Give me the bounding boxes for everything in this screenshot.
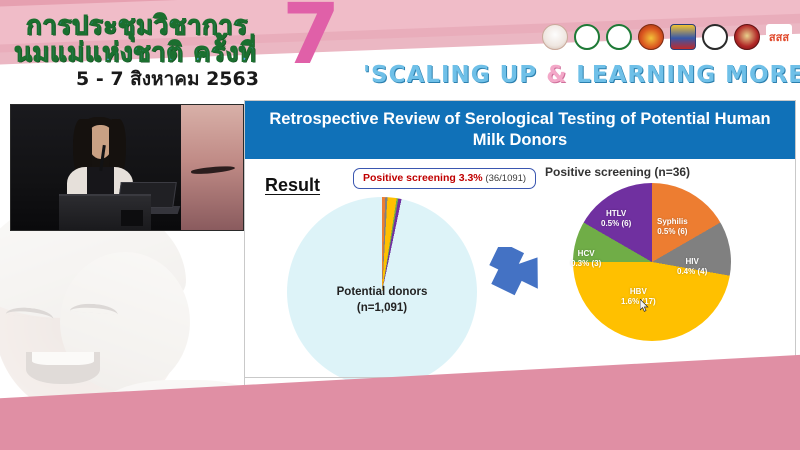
footnote-abbr-hcv: HCV (332, 385, 348, 394)
footnote-citation: Cohen RS, et al. Arch Dis Child Fetal Ne… (591, 386, 787, 393)
slice-value-htlv: 0.5% (6) (601, 219, 631, 229)
footnote-abbr-hbv: HBV (253, 385, 269, 394)
positive-screening-pie-chart[interactable]: Syphilis 0.5% (6) HIV 0.4% (4) HBV 1.6% … (573, 183, 731, 341)
slice-label-hiv: HIV 0.4% (4) (677, 257, 707, 277)
tagline-part1: 'SCALING UP (363, 62, 546, 88)
slide-body: Result Positive screening 3.3% (36/1091)… (245, 159, 795, 402)
slice-value-hcv: 0.3% (3) (571, 259, 601, 269)
royal-emblem-logo (542, 24, 568, 50)
tagline-ampersand: & (546, 62, 567, 88)
footnote-text: HBV: Hepatitis B virus; HCV: Hepatitis C… (253, 385, 544, 394)
slice-value-hiv: 0.4% (4) (677, 267, 707, 277)
watermark-mouth (26, 352, 100, 384)
footnote-text-1: : Hepatitis B virus; (269, 385, 332, 394)
slice-name-hiv: HIV (677, 257, 707, 267)
potential-donors-center-label: Potential donors (n=1,091) (287, 285, 477, 316)
slide-footnote: HBV: Hepatitis B virus; HCV: Hepatitis C… (245, 377, 795, 401)
watermark-teeth (32, 352, 94, 365)
slice-value-syphilis: 0.5% (6) (657, 227, 688, 237)
podium-plate (121, 210, 143, 226)
red-garuda-crest-logo (734, 24, 760, 50)
potential-donors-count: (n=1,091) (287, 301, 477, 317)
footnote-text-2: : Hepatitis C virus ; (348, 385, 414, 394)
watermark-shoulder (100, 380, 250, 427)
slice-label-htlv: HTLV 0.5% (6) (601, 209, 631, 229)
callout-fraction: (36/1091) (485, 173, 526, 184)
blue-arrow-icon (483, 247, 545, 305)
black-circle-institute-logo (702, 24, 728, 50)
speaker-video[interactable] (10, 104, 244, 231)
potential-donors-pie-chart[interactable]: Potential donors (n=1,091) (287, 197, 477, 387)
footnote-text-3: : human T cell lymphotropic virus (434, 385, 545, 394)
result-label: Result (265, 175, 320, 196)
slice-name-htlv: HTLV (601, 209, 631, 219)
slide-title: Retrospective Review of Serological Test… (245, 101, 795, 159)
footnote-abbr-htlv: HTLV (414, 385, 433, 394)
royal-crest-orange-logo (638, 24, 664, 50)
slice-value-hbv: 1.6% (17) (621, 297, 656, 307)
callout-highlight: Positive screening 3.3% (363, 172, 483, 184)
slice-name-hcv: HCV (571, 249, 601, 259)
positive-screening-chart-title: Positive screening (n=36) (545, 165, 690, 179)
thai-breastfeeding-green-logo (574, 24, 600, 50)
slice-label-syphilis: Syphilis 0.5% (6) (657, 217, 688, 237)
thaihealth-sss-logo: สสส (766, 24, 792, 50)
slice-name-syphilis: Syphilis (657, 217, 688, 227)
positive-screening-callout: Positive screening 3.3% (36/1091) (353, 168, 536, 189)
slice-name-hbv: HBV (621, 287, 656, 297)
conference-tagline: 'SCALING UP & LEARNING MORE' (363, 62, 800, 88)
potential-donors-title: Potential donors (287, 285, 477, 301)
slide-panel: Retrospective Review of Serological Test… (244, 100, 796, 402)
slice-label-hcv: HCV 0.3% (3) (571, 249, 601, 269)
child-watermark-image (0, 212, 250, 427)
ministry-health-green-logo (606, 24, 632, 50)
slice-label-hbv: HBV 1.6% (17) (621, 287, 656, 307)
sponsor-logos: สสส (542, 24, 792, 50)
conference-edition-number: 7 (282, 0, 340, 76)
conference-date: 5 - 7 สิงหาคม 2563 (76, 64, 259, 94)
podium (59, 194, 151, 230)
national-flag-crest-logo (670, 24, 696, 50)
tagline-part2: LEARNING MORE' (567, 62, 800, 88)
presentation-screen: การประชุมวิชาการ นมแม่แห่งชาติ ครั้งที่ … (0, 0, 800, 450)
